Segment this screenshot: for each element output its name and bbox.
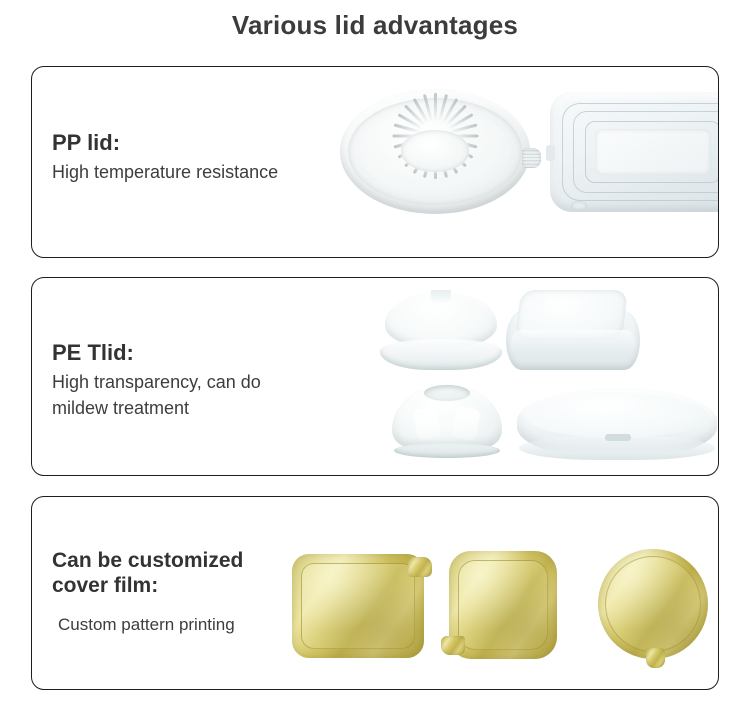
pe-tlid-product-images: [282, 278, 718, 475]
round-pp-lid-image: [340, 89, 530, 214]
pe-tlid-description: High transparency, can do mildew treatme…: [52, 369, 261, 421]
caption-cover-film: Can be customized cover film: Custom pat…: [52, 549, 243, 637]
page-title: Various lid advantages: [0, 10, 750, 41]
foil-inner-panel: [605, 556, 702, 653]
lid-center-plate: [595, 129, 710, 175]
pe-tlid-heading: PE Tlid:: [52, 340, 261, 366]
pp-lid-product-images: [282, 67, 718, 257]
round-gold-foil-cover-image: [598, 549, 708, 659]
panel-pe-tlid: PE Tlid: High transparency, can do milde…: [31, 277, 719, 476]
lid-side-notch: [546, 145, 555, 161]
cover-film-product-images: [282, 497, 718, 689]
lid-lip: [511, 330, 634, 357]
square-pe-lid-image: [506, 290, 640, 370]
heart-pe-lid-image: [380, 292, 502, 370]
oval-pe-lid-image: [517, 388, 717, 460]
panel-pp-lid: PP lid: High temperature resistance: [31, 66, 719, 258]
pp-lid-heading: PP lid:: [52, 130, 278, 156]
foil-pull-tab: [441, 636, 465, 655]
foil-inner-panel: [458, 560, 549, 651]
pp-lid-description: High temperature resistance: [52, 159, 278, 185]
cover-film-description: Custom pattern printing: [52, 613, 243, 638]
lid-notch: [605, 434, 631, 441]
caption-pe-tlid: PE Tlid: High transparency, can do milde…: [52, 340, 261, 421]
lid-inner-face: [525, 394, 709, 439]
foil-pull-tab: [408, 557, 432, 577]
lid-corner-notch: [571, 201, 587, 210]
dome-pe-lid-image: [392, 384, 502, 458]
rectangular-pp-lid-image: [550, 92, 719, 212]
panel-cover-film: Can be customized cover film: Custom pat…: [31, 496, 719, 690]
lid-center-hub: [401, 130, 469, 171]
lid-pull-tab: [522, 148, 541, 168]
caption-pp-lid: PP lid: High temperature resistance: [52, 130, 278, 185]
lid-flange: [380, 339, 502, 370]
square-gold-foil-cover-image: [449, 551, 557, 659]
foil-inner-panel: [301, 563, 415, 648]
lid-skirt: [394, 443, 500, 458]
rectangular-gold-foil-cover-image: [292, 554, 424, 658]
lid-straw-hole: [424, 385, 470, 401]
foil-pull-tab: [646, 648, 665, 668]
cover-film-heading: Can be customized cover film:: [52, 549, 243, 599]
